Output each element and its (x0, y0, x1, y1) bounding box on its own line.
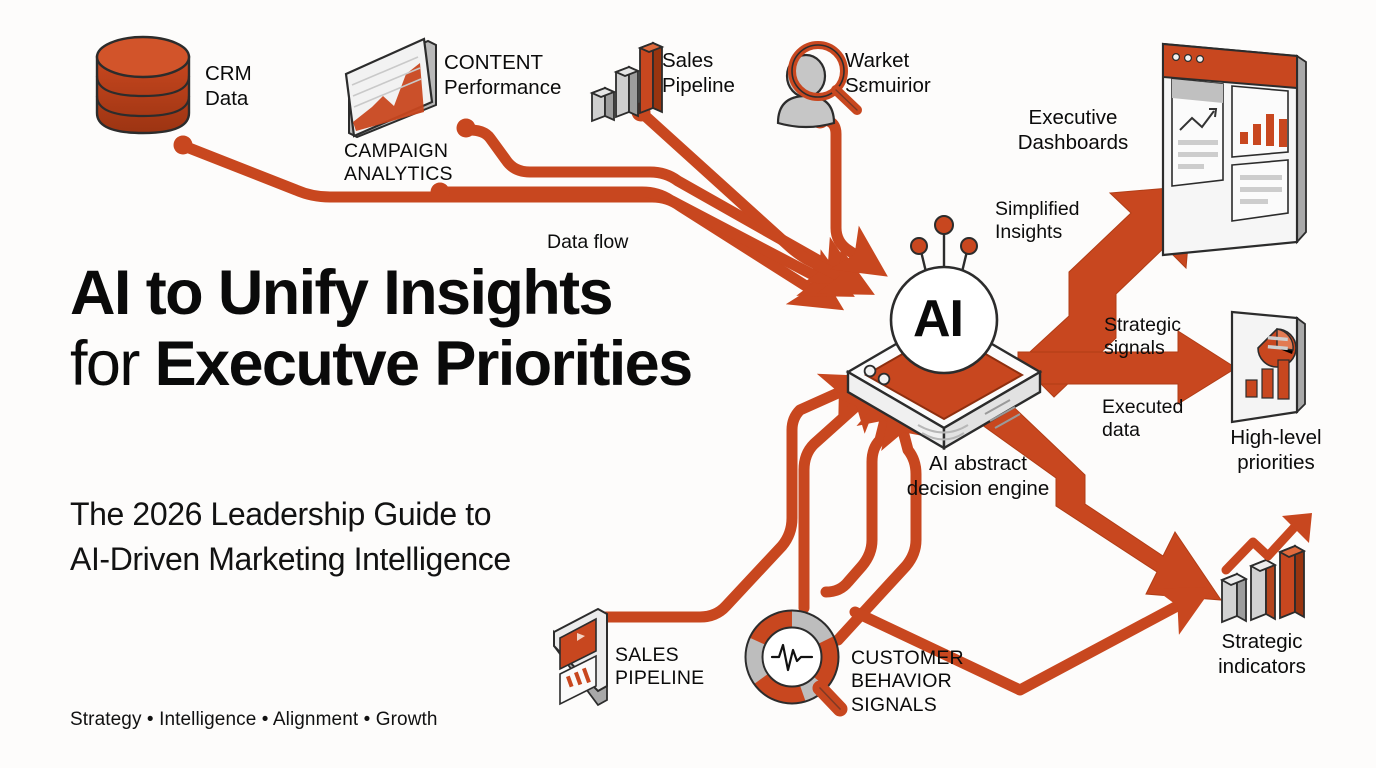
input-label-customer-behavior-signals: CUSTOMER BEHAVIOR SIGNALS (851, 647, 964, 717)
input-label-sales-pipeline-bottom: SALES PIPELINE (615, 644, 704, 691)
tablet-report-icon (554, 609, 607, 705)
headline-line-1: AI to Unify Insights (70, 258, 840, 329)
input-label-campaign-analytics: CAMPAIGN ANALYTICS (344, 140, 453, 187)
flow-label-simplified-insights: Simplified Insights (995, 198, 1080, 245)
headline-block: AI to Unify Insights for Executve Priori… (70, 258, 840, 400)
infographic-canvas: AI to Unify Insights for Executve Priori… (0, 0, 1376, 768)
pulse-magnifier-icon (746, 611, 841, 710)
database-cylinder-icon (97, 37, 189, 133)
subtitle: The 2026 Leadership Guide to AI-Driven M… (70, 492, 710, 583)
growth-bars-icon (1222, 513, 1312, 622)
input-label-content-performance: CONTENT Performance (444, 51, 561, 100)
ai-hub-caption: AI abstract decision engine (878, 452, 1078, 501)
input-label-crm-data: CRM Data (205, 62, 252, 111)
connector-dot-crm (174, 136, 193, 155)
ai-hub-label: AI (913, 289, 963, 349)
tagline: Strategy • Intelligence • Alignment • Gr… (70, 709, 438, 731)
connector-market-path (822, 120, 872, 266)
headline-line-2-bold: Executve Priorities (155, 329, 692, 399)
connector-dot-content (457, 119, 476, 138)
headline-line-2: for Executve Priorities (70, 329, 840, 400)
input-label-sales-pipeline-top: Sales Pipeline (662, 49, 735, 98)
chart-screen-icon (346, 39, 436, 137)
input-label-market-behavior: Warket Sɛmuirior (845, 49, 931, 98)
report-card-icon (1232, 312, 1305, 422)
flow-label-data-flow: Data flow (547, 231, 628, 254)
connector-bottom-feeder-2 (804, 392, 872, 608)
output-label-high-level-priorities: High-level priorities (1201, 426, 1351, 475)
connector-content-path (470, 130, 846, 276)
bar-chart-3d-icon (592, 43, 662, 121)
output-label-executive-dashboards: Executive Dashboards (983, 106, 1163, 155)
flow-label-executed-data: Executed data (1102, 396, 1183, 443)
output-label-strategic-indicators: Strategic indicators (1187, 630, 1337, 679)
dashboard-window-icon (1163, 44, 1306, 255)
headline-line-2-thin: for (70, 329, 155, 399)
flow-label-strategic-signals: Strategic signals (1104, 314, 1181, 361)
